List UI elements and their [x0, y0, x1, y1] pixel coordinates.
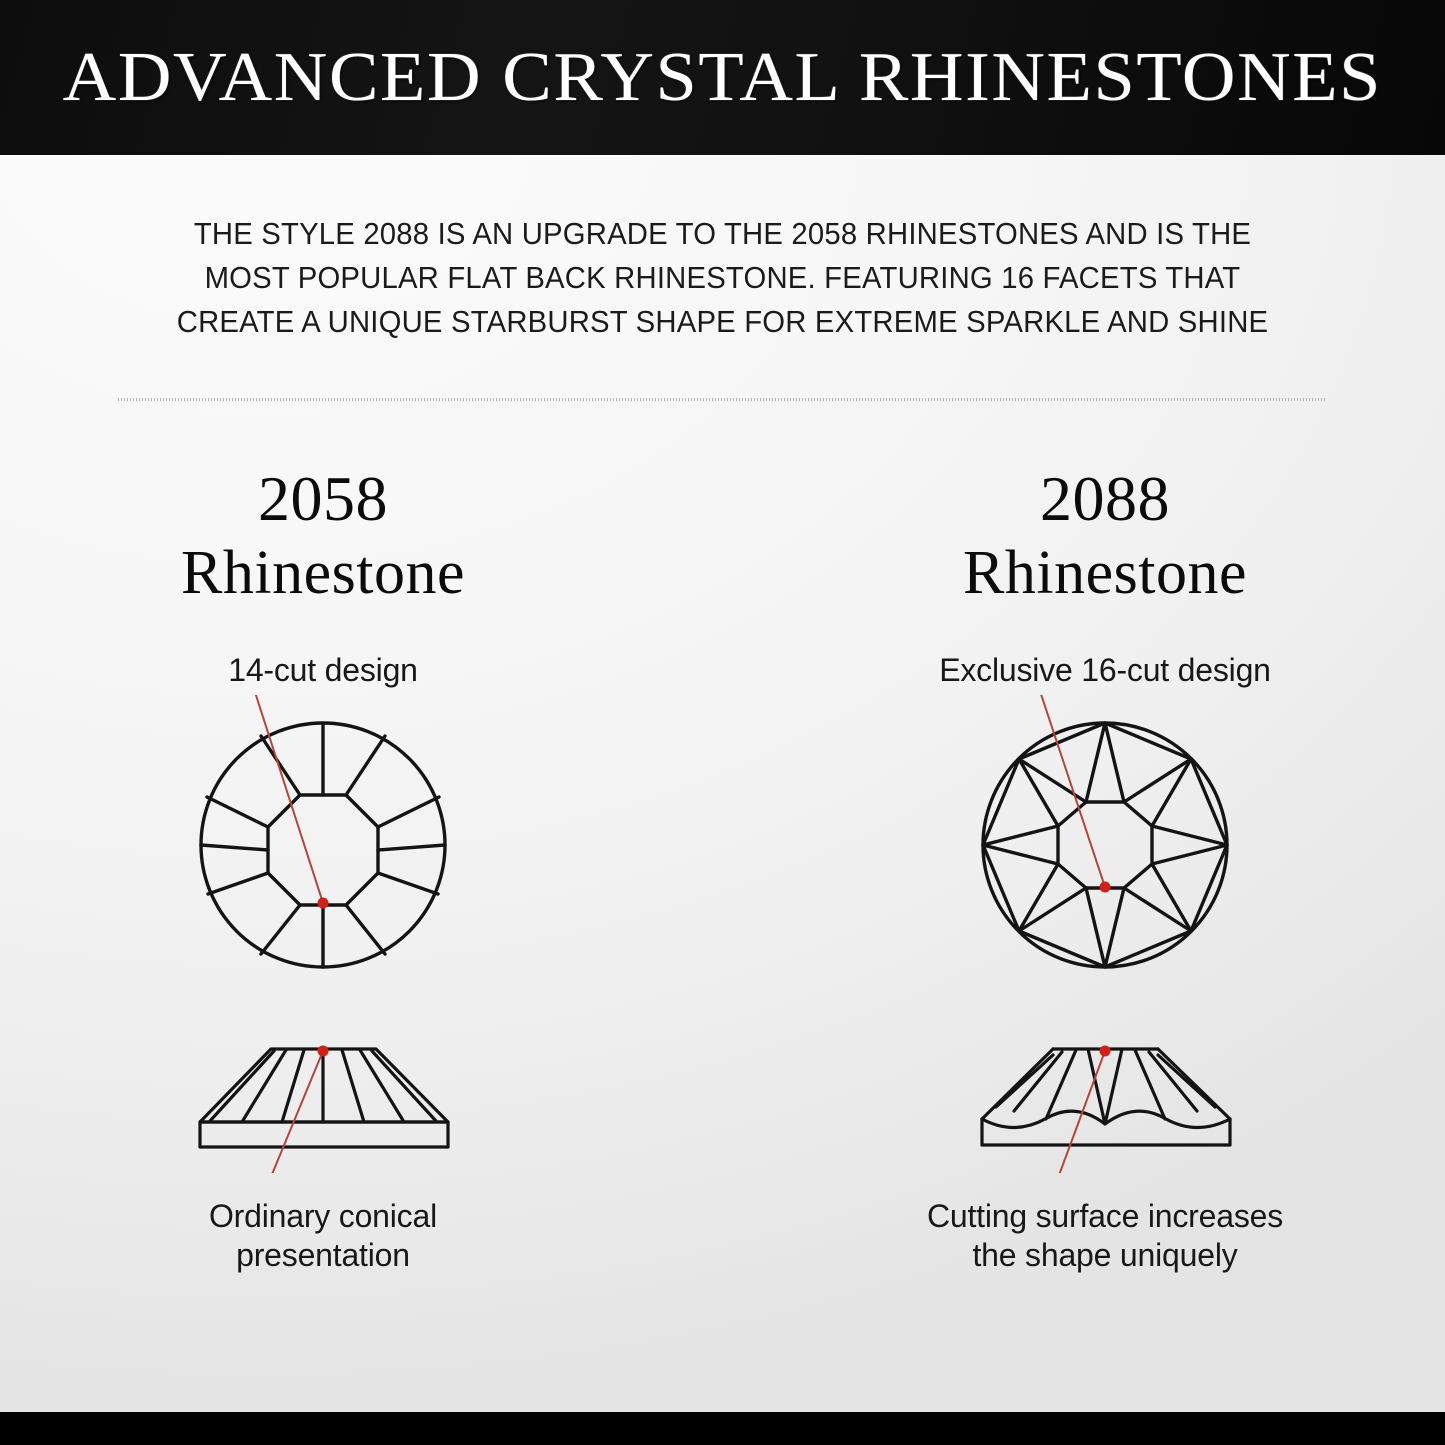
label-exclusive-16-cut-design: Exclusive 16-cut design — [800, 652, 1410, 689]
column-2058-title: 2058 Rhinestone — [18, 462, 628, 610]
intro-line-1: THE STYLE 2088 IS AN UPGRADE TO THE 2058… — [135, 212, 1311, 256]
header-banner: ADVANCED CRYSTAL RHINESTONES — [0, 0, 1445, 155]
footer-bar — [0, 1412, 1445, 1445]
label-cutting-surface-increases: Cutting surface increases the shape uniq… — [800, 1197, 1410, 1275]
label-2088-bottom-line-1: Cutting surface increases — [800, 1197, 1410, 1236]
diagram-2088-side-view — [800, 1023, 1410, 1173]
header-bottom-edge — [0, 155, 1445, 157]
label-2088-bottom-line-2: the shape uniquely — [800, 1236, 1410, 1275]
intro-line-3: CREATE A UNIQUE STARBURST SHAPE FOR EXTR… — [135, 300, 1311, 344]
intro-line-2: MOST POPULAR FLAT BACK RHINESTONE. FEATU… — [135, 256, 1311, 300]
diagram-2088-top-view — [800, 695, 1410, 995]
leader-line-2088-top — [800, 695, 1410, 995]
diagram-2058-side-view — [18, 1023, 628, 1173]
intro-paragraph: THE STYLE 2088 IS AN UPGRADE TO THE 2058… — [135, 212, 1311, 344]
leader-line-2088-side — [800, 1023, 1410, 1173]
label-14-cut-design: 14-cut design — [18, 652, 628, 689]
infographic-page: ADVANCED CRYSTAL RHINESTONES THE STYLE 2… — [0, 0, 1445, 1445]
column-2088: 2088 Rhinestone Exclusive 16-cut design — [800, 462, 1410, 1275]
label-ordinary-conical-presentation: Ordinary conical presentation — [18, 1197, 628, 1275]
column-2058-title-word: Rhinestone — [18, 536, 628, 610]
leader-line-2058-side — [18, 1023, 628, 1173]
dotted-divider — [118, 398, 1326, 401]
column-2088-title-number: 2088 — [1040, 463, 1170, 534]
label-2058-bottom-line-2: presentation — [18, 1236, 628, 1275]
diagram-2058-top-view — [18, 695, 628, 995]
column-2058: 2058 Rhinestone 14-cut design — [18, 462, 628, 1275]
column-2088-title: 2088 Rhinestone — [800, 462, 1410, 610]
leader-line-2058-top — [18, 695, 628, 995]
column-2088-title-word: Rhinestone — [800, 536, 1410, 610]
label-2058-bottom-line-1: Ordinary conical — [18, 1197, 628, 1236]
page-title: ADVANCED CRYSTAL RHINESTONES — [63, 38, 1382, 118]
column-2058-title-number: 2058 — [258, 463, 388, 534]
